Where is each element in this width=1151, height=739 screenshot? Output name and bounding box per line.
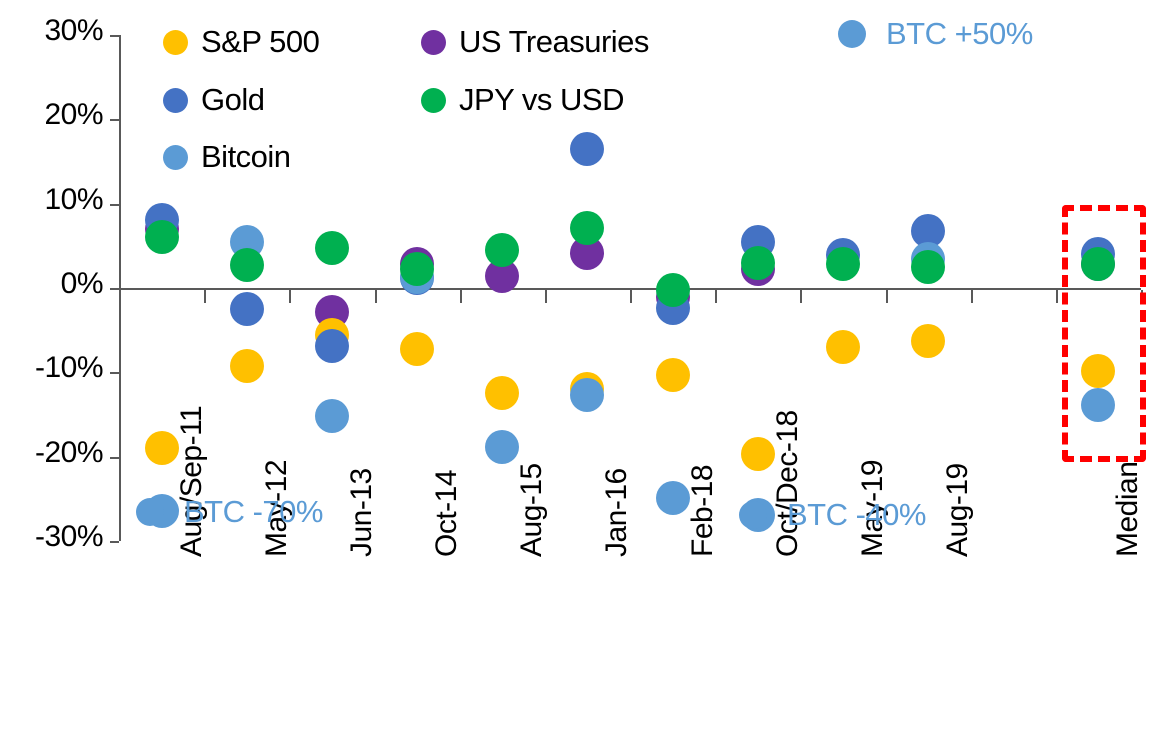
x-axis-tick bbox=[715, 290, 717, 303]
y-axis-label: 30% bbox=[44, 14, 103, 48]
x-axis-tick bbox=[971, 290, 973, 303]
legend-item-bitcoin[interactable]: Bitcoin bbox=[163, 139, 291, 175]
y-axis-tick bbox=[110, 204, 119, 206]
x-axis-tick bbox=[204, 290, 206, 303]
x-axis-label-feb-18: Feb-18 bbox=[686, 465, 720, 557]
x-axis-tick bbox=[886, 290, 888, 303]
data-point bbox=[656, 273, 690, 307]
y-axis-tick bbox=[110, 372, 119, 374]
annotation-marker-icon bbox=[136, 498, 164, 526]
annotation-marker-icon bbox=[739, 501, 767, 529]
y-axis-label: -30% bbox=[35, 520, 103, 554]
legend-label: S&P 500 bbox=[201, 24, 319, 60]
data-point bbox=[741, 246, 775, 280]
y-axis-tick bbox=[110, 541, 119, 543]
legend-marker-icon bbox=[163, 30, 188, 55]
annotation-marker-icon bbox=[838, 20, 866, 48]
y-axis-tick bbox=[110, 288, 119, 290]
y-axis-label: 10% bbox=[44, 183, 103, 217]
data-point bbox=[230, 248, 264, 282]
x-axis-label-median: Median bbox=[1111, 462, 1145, 557]
data-point bbox=[315, 329, 349, 363]
data-point bbox=[145, 220, 179, 254]
legend-marker-icon bbox=[421, 88, 446, 113]
y-axis-label: 0% bbox=[61, 267, 103, 301]
annotation-btc-plus-50: BTC +50% bbox=[838, 16, 1033, 52]
legend-marker-icon bbox=[163, 88, 188, 113]
annotation-label: BTC -40% bbox=[787, 497, 926, 533]
y-axis-label: -10% bbox=[35, 351, 103, 385]
data-point bbox=[570, 132, 604, 166]
x-axis-label-oct-14: Oct-14 bbox=[430, 470, 464, 557]
data-point bbox=[570, 378, 604, 412]
data-point bbox=[1081, 354, 1115, 388]
x-axis-label-oct-dec-18: Oct/Dec-18 bbox=[771, 410, 805, 557]
x-axis-tick bbox=[1056, 290, 1058, 303]
legend-marker-icon bbox=[163, 145, 188, 170]
x-axis-label-aug-19: Aug-19 bbox=[941, 463, 975, 557]
data-point bbox=[570, 211, 604, 245]
data-point bbox=[1081, 247, 1115, 281]
legend-item-us-treasuries[interactable]: US Treasuries bbox=[421, 24, 649, 60]
x-axis-label-jun-13: Jun-13 bbox=[345, 468, 379, 557]
data-point bbox=[911, 250, 945, 284]
y-axis-tick bbox=[110, 35, 119, 37]
legend-label: JPY vs USD bbox=[459, 82, 624, 118]
data-point bbox=[145, 431, 179, 465]
x-axis-tick bbox=[289, 290, 291, 303]
x-axis-label-aug-sep-11: Aug/Sep-11 bbox=[175, 406, 209, 557]
data-point bbox=[485, 233, 519, 267]
legend-item-s-p-500[interactable]: S&P 500 bbox=[163, 24, 319, 60]
data-point bbox=[826, 330, 860, 364]
legend-label: Bitcoin bbox=[201, 139, 291, 175]
legend-label: Gold bbox=[201, 82, 264, 118]
annotation-btc-minus-70: BTC -70% bbox=[136, 494, 323, 530]
x-axis-tick bbox=[460, 290, 462, 303]
data-point bbox=[485, 430, 519, 464]
data-point bbox=[741, 437, 775, 471]
x-axis-label-jan-16: Jan-16 bbox=[600, 468, 634, 557]
data-point bbox=[230, 292, 264, 326]
data-point bbox=[315, 231, 349, 265]
legend-item-jpy-vs-usd[interactable]: JPY vs USD bbox=[421, 82, 624, 118]
x-axis-tick bbox=[545, 290, 547, 303]
x-axis-label-aug-15: Aug-15 bbox=[515, 463, 549, 557]
x-axis-tick bbox=[630, 290, 632, 303]
x-axis-tick bbox=[800, 290, 802, 303]
data-point bbox=[485, 376, 519, 410]
legend-marker-icon bbox=[421, 30, 446, 55]
y-axis-tick bbox=[110, 457, 119, 459]
legend-label: US Treasuries bbox=[459, 24, 649, 60]
data-point bbox=[656, 358, 690, 392]
x-axis-tick bbox=[375, 290, 377, 303]
data-point bbox=[911, 324, 945, 358]
legend-item-gold[interactable]: Gold bbox=[163, 82, 264, 118]
annotation-label: BTC +50% bbox=[886, 16, 1033, 52]
data-point bbox=[315, 399, 349, 433]
data-point bbox=[400, 332, 434, 366]
annotation-btc-minus-40: BTC -40% bbox=[739, 497, 926, 533]
y-axis-label: -20% bbox=[35, 436, 103, 470]
y-axis-label: 20% bbox=[44, 98, 103, 132]
data-point bbox=[656, 481, 690, 515]
data-point bbox=[230, 349, 264, 383]
chart-container: 30%20%10%0%-10%-20%-30%Aug/Sep-11May-12J… bbox=[0, 0, 1151, 739]
annotation-label: BTC -70% bbox=[184, 494, 323, 530]
y-axis-tick bbox=[110, 119, 119, 121]
data-point bbox=[400, 252, 434, 286]
data-point bbox=[826, 247, 860, 281]
